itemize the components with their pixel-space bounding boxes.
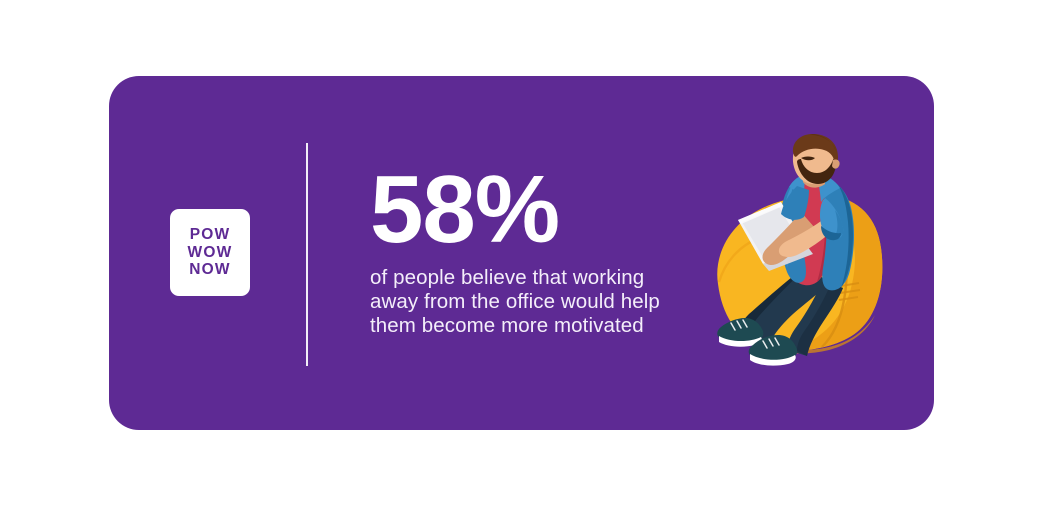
- logo-line-1: POW: [190, 226, 231, 244]
- logo-line-3: NOW: [189, 261, 230, 279]
- stat-card: POW WOW NOW 58% of people believe that w…: [109, 76, 934, 430]
- man-on-beanbag-illustration: [705, 134, 905, 374]
- stat-value: 58%: [370, 162, 690, 258]
- logo-line-2: WOW: [188, 244, 233, 262]
- vertical-divider: [306, 143, 308, 366]
- stat-text-block: 58% of people believe that working away …: [370, 162, 690, 338]
- stat-description: of people believe that working away from…: [370, 266, 670, 338]
- powwownow-logo[interactable]: POW WOW NOW: [170, 209, 250, 296]
- screenshot-root: POW WOW NOW 58% of people believe that w…: [0, 0, 1042, 506]
